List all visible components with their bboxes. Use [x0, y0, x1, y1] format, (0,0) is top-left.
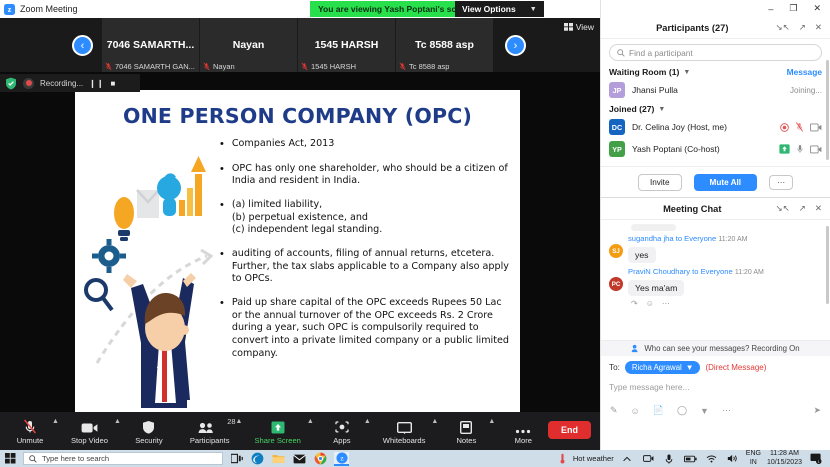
chat-to-label: To: — [609, 363, 620, 372]
scrolled-message-partial — [631, 224, 676, 231]
microphone-tray-icon[interactable] — [662, 452, 677, 466]
clock-date: 10/15/2023 — [767, 459, 802, 466]
participants-icon — [198, 418, 222, 434]
system-tray: Hot weather — [558, 450, 826, 466]
waiting-room-header[interactable]: Waiting Room (1) ▼ Message — [601, 64, 830, 79]
close-chat-icon[interactable]: ✕ — [815, 203, 822, 214]
thumbnail-name: Nayan — [213, 62, 235, 71]
file-explorer-icon[interactable] — [271, 452, 286, 466]
search-icon — [617, 49, 625, 57]
file-icon[interactable]: 📄 — [653, 405, 664, 416]
window-controls: – ❐ ✕ — [601, 0, 830, 17]
bullet-marker: • — [220, 248, 224, 286]
task-view-icon[interactable] — [229, 452, 244, 466]
mail-icon[interactable] — [292, 452, 307, 466]
avatar: SJ — [609, 244, 623, 258]
sticker-icon[interactable]: ◯ — [677, 405, 687, 416]
thumbnail-list: 7046 SAMARTH... 7046 SAMARTH GAN... Naya… — [102, 18, 494, 72]
participant-search-placeholder: Find a participant — [629, 48, 693, 58]
participants-panel: Participants (27) ↘↖ ↗ ✕ Find a particip… — [601, 17, 830, 197]
shield-icon — [142, 418, 155, 434]
participants-button[interactable]: Participants 28 — [186, 418, 234, 445]
video-thumbnail[interactable]: 7046 SAMARTH... 7046 SAMARTH GAN... — [102, 18, 200, 72]
waiting-room-label: Waiting Room (1) — [609, 67, 679, 77]
mic-off-icon — [23, 418, 37, 434]
participants-panel-title: Participants (27) — [609, 23, 776, 33]
chat-message-text: yes — [628, 247, 656, 263]
chat-toolbar: ✎ ☺ 📄 ◯ ▼ ⋯ ➤ — [601, 405, 830, 416]
share-screen-icon — [271, 418, 285, 434]
thumbnail-display-name: 7046 SAMARTH... — [102, 39, 199, 51]
popout-chat-icon[interactable]: ↗ — [799, 203, 806, 214]
participant-status-icons — [779, 144, 822, 154]
end-meeting-button[interactable]: End — [548, 421, 591, 439]
slide-title: ONE PERSON COMPANY (OPC) — [75, 104, 520, 128]
chat-recipient-value: Richa Agrawal — [632, 363, 682, 372]
language-code: ENG — [746, 450, 761, 457]
waiting-room-message-link[interactable]: Message — [787, 67, 822, 77]
chat-message-text: Yes ma'am — [628, 280, 684, 296]
participant-status-icons — [780, 122, 822, 132]
chat-scrollbar[interactable] — [826, 226, 829, 304]
participant-status: Joining... — [790, 86, 822, 95]
mic-off-icon — [399, 62, 406, 71]
chrome-icon[interactable] — [313, 452, 328, 466]
apps-control: Apps ▲ — [322, 418, 379, 445]
joined-label: Joined (27) — [609, 104, 654, 114]
windows-taskbar: Type here to search — [0, 450, 830, 467]
invite-button[interactable]: Invite — [638, 174, 682, 191]
recording-bar: Recording... ❙❙ ■ — [0, 74, 140, 92]
video-icon — [810, 145, 822, 154]
chat-message: PC PraviN Choudhary to Everyone 11:20 AM… — [609, 267, 822, 308]
whiteboards-label: Whiteboards — [383, 436, 426, 445]
thumbnail-name: Tc 8588 asp — [409, 62, 449, 71]
participants-caret-icon[interactable]: ▲ — [236, 418, 243, 425]
bullet-marker: • — [220, 163, 224, 188]
audio-options-caret-icon[interactable]: ▲ — [52, 418, 59, 425]
participants-panel-actions: ↘↖ ↗ ✕ — [776, 22, 823, 33]
zoom-logo-icon: z — [4, 4, 15, 15]
slide-bullet: • auditing of accounts, filing of annual… — [220, 248, 510, 286]
windows-logo-icon — [5, 453, 16, 464]
zoom-meeting-screen: z Zoom Meeting You are viewing Yash Popt… — [0, 0, 830, 467]
unmute-label: Unmute — [17, 436, 44, 445]
clock-time: 11:28 AM — [770, 450, 799, 457]
restore-button[interactable]: ❐ — [789, 3, 797, 14]
recording-icon — [780, 123, 789, 132]
zoom-main-window: z Zoom Meeting You are viewing Yash Popt… — [0, 0, 600, 450]
thumbnail-display-name: 1545 HARSH — [298, 39, 395, 51]
slide-bullet: • Paid up share capital of the OPC excee… — [220, 297, 510, 360]
more-icon[interactable]: ⋯ — [662, 299, 670, 308]
recording-label: Recording... — [40, 79, 83, 88]
mic-off-icon — [301, 62, 308, 71]
participant-name: Jhansi Pulla — [632, 85, 678, 95]
avatar: DC — [609, 119, 625, 135]
mic-on-icon — [796, 144, 804, 154]
start-button[interactable] — [4, 452, 17, 465]
meeting-controls-toolbar: Unmute ▲ Stop Video ▲ — [0, 412, 600, 450]
participant-row[interactable]: DC Dr. Celina Joy (Host, me) — [601, 116, 830, 138]
minimize-panel-icon[interactable]: ↘↖ — [776, 22, 790, 33]
video-icon — [81, 418, 98, 434]
battery-icon[interactable] — [683, 452, 698, 466]
avatar: YP — [609, 141, 625, 157]
participants-panel-header: Participants (27) ↘↖ ↗ ✕ — [601, 17, 830, 39]
security-label: Security — [135, 436, 162, 445]
window-title: Zoom Meeting — [20, 4, 78, 14]
notes-icon — [460, 418, 472, 434]
bullet-marker: • — [220, 138, 224, 152]
avatar: JP — [609, 82, 625, 98]
share-screen-label: Share Screen — [254, 436, 300, 445]
participant-search-wrap: Find a participant — [601, 39, 830, 64]
view-layout-button[interactable]: View — [564, 22, 594, 32]
unmute-control: Unmute ▲ — [10, 418, 67, 445]
chat-panel-header: Meeting Chat ↘↖ ↗ ✕ — [601, 198, 830, 220]
bullet-marker: • — [220, 199, 224, 237]
chat-timestamp: 11:20 AM — [718, 236, 747, 243]
chat-timestamp: 11:20 AM — [735, 269, 764, 276]
stop-video-button[interactable]: Stop Video — [67, 418, 112, 445]
participant-filmstrip: 7046 SAMARTH... 7046 SAMARTH GAN... Naya… — [0, 18, 600, 72]
avatar: PC — [609, 277, 623, 291]
bullet-text: auditing of accounts, filing of annual r… — [232, 248, 510, 286]
whiteboards-button[interactable]: Whiteboards — [379, 418, 430, 445]
apps-button[interactable]: Apps — [322, 418, 362, 445]
thumbnail-display-name: Nayan — [200, 39, 297, 51]
chat-sender[interactable]: PraviN Choudhary — [628, 267, 690, 276]
business-growth-illustration — [79, 138, 219, 408]
whiteboards-caret-icon[interactable]: ▲ — [431, 418, 438, 425]
chat-sender[interactable]: sugandha jha — [628, 234, 674, 243]
share-screen-button[interactable]: Share Screen — [250, 418, 304, 445]
filmstrip-prev-button[interactable]: ‹ — [72, 35, 93, 56]
video-options-caret-icon[interactable]: ▲ — [114, 418, 121, 425]
bullet-marker: • — [220, 297, 224, 360]
chat-recipient-selector: To: Richa Agrawal ▼ (Direct Message) — [601, 361, 830, 374]
bullet-text: OPC has only one shareholder, who should… — [232, 163, 510, 188]
bullet-text: (a) limited liability, (b) perpetual exi… — [232, 199, 382, 237]
more-control: More — [503, 418, 543, 445]
emoji-reaction-icon[interactable]: ☺ — [646, 299, 654, 308]
close-panel-icon[interactable]: ✕ — [815, 22, 822, 33]
participant-name: Yash Poptani (Co-host) — [632, 144, 720, 154]
video-icon — [810, 123, 822, 132]
chat-message-input[interactable]: Type message here... — [609, 382, 690, 392]
chat-message-meta: sugandha jha to Everyone 11:20 AM — [628, 234, 822, 243]
chevron-down-icon[interactable]: ▼ — [683, 69, 690, 76]
pause-recording-button[interactable]: ❙❙ — [89, 79, 104, 88]
slide-bullet: • Companies Act, 2013 — [220, 138, 510, 152]
more-label: More — [515, 436, 532, 445]
screenshot-icon[interactable]: ✎ — [610, 405, 618, 416]
participant-search-input[interactable]: Find a participant — [609, 44, 822, 61]
mic-off-icon — [105, 62, 112, 71]
chat-privacy-notice[interactable]: Who can see your messages? Recording On — [601, 340, 830, 356]
participants-more-button[interactable]: ⋯ — [769, 175, 793, 190]
notes-label: Notes — [456, 436, 476, 445]
view-button-label: View — [576, 22, 594, 32]
show-hidden-icons-chevron[interactable] — [620, 452, 635, 466]
chat-message-meta: PraviN Choudhary to Everyone 11:20 AM — [628, 267, 822, 276]
grid-icon — [564, 23, 573, 31]
shield-icon[interactable] — [5, 77, 17, 90]
chat-message-reactions: ↷ ☺ ⋯ — [631, 299, 822, 308]
waiting-room-participant-row[interactable]: JP Jhansi Pulla Joining... — [601, 79, 830, 101]
bullet-text: Companies Act, 2013 — [232, 138, 335, 152]
apps-icon — [335, 418, 349, 434]
chevron-down-icon[interactable]: ▼ — [700, 406, 709, 416]
participants-control: Participants 28 ▲ — [186, 418, 251, 445]
mic-off-icon — [203, 62, 210, 71]
share-screen-control: Share Screen ▲ — [250, 418, 321, 445]
video-thumbnail[interactable]: 1545 HARSH 1545 HARSH — [298, 18, 396, 72]
slide-bullet: • OPC has only one shareholder, who shou… — [220, 163, 510, 188]
thumbnail-footer: Nayan — [200, 62, 297, 71]
slide-bullet: • (a) limited liability, (b) perpetual e… — [220, 199, 510, 237]
reply-icon[interactable]: ↷ — [631, 299, 638, 308]
thumbnail-display-name: Tc 8588 asp — [396, 39, 493, 51]
thumbnail-name: 1545 HARSH — [311, 62, 356, 71]
notifications-icon[interactable]: 1 — [808, 452, 823, 466]
share-options-caret-icon[interactable]: ▲ — [307, 418, 314, 425]
participants-scrollbar[interactable] — [826, 60, 829, 160]
share-screen-icon — [779, 144, 790, 154]
edge-icon[interactable] — [250, 452, 265, 466]
participants-action-bar: Invite Mute All ⋯ — [601, 166, 830, 197]
apps-label: Apps — [333, 436, 350, 445]
presentation-slide: ONE PERSON COMPANY (OPC) — [75, 90, 520, 412]
apps-caret-icon[interactable]: ▲ — [364, 418, 371, 425]
chevron-down-icon: ▼ — [530, 6, 537, 13]
thumbnail-name: 7046 SAMARTH GAN... — [115, 62, 195, 71]
thumbnail-footer: Tc 8588 asp — [396, 62, 493, 71]
camera-tray-icon[interactable] — [641, 452, 656, 466]
meeting-chat-panel: Meeting Chat ↘↖ ↗ ✕ SJ sugandha jha to E… — [601, 197, 830, 418]
volume-icon[interactable] — [725, 452, 740, 466]
direct-message-tag: (Direct Message) — [705, 363, 766, 372]
chat-message: SJ sugandha jha to Everyone 11:20 AM yes — [609, 234, 822, 263]
notes-button[interactable]: Notes — [446, 418, 486, 445]
video-thumbnail[interactable]: Tc 8588 asp Tc 8588 asp — [396, 18, 494, 72]
recording-indicator-icon — [23, 78, 34, 89]
view-options-label: View Options — [462, 4, 516, 14]
participants-label: Participants — [190, 436, 230, 445]
chat-privacy-text: Who can see your messages? Recording On — [644, 344, 799, 353]
clock[interactable]: 11:28 AM 10/15/2023 — [767, 450, 802, 466]
participant-row[interactable]: YP Yash Poptani (Co-host) — [601, 138, 830, 160]
mic-off-icon — [795, 122, 804, 132]
minimize-chat-icon[interactable]: ↘↖ — [776, 203, 790, 214]
weather-label[interactable]: Hot weather — [573, 454, 614, 463]
search-icon — [29, 455, 37, 463]
zoom-icon[interactable]: z — [334, 452, 349, 466]
chevron-down-icon: ▼ — [686, 363, 694, 372]
view-options-button[interactable]: View Options ▼ — [455, 1, 544, 17]
chat-recipient: to Everyone — [692, 267, 733, 276]
chat-panel-actions: ↘↖ ↗ ✕ — [776, 203, 823, 214]
filmstrip-next-button[interactable]: › — [505, 35, 526, 56]
participant-name: Dr. Celina Joy (Host, me) — [632, 122, 727, 132]
chat-recipient-dropdown[interactable]: Richa Agrawal ▼ — [625, 361, 701, 374]
emoji-icon[interactable]: ☺ — [631, 406, 640, 416]
right-side-panels: – ❐ ✕ Participants (27) ↘↖ ↗ ✕ — [600, 0, 830, 450]
video-control: Stop Video ▲ — [67, 418, 129, 445]
popout-panel-icon[interactable]: ↗ — [799, 22, 806, 33]
video-thumbnail[interactable]: Nayan Nayan — [200, 18, 298, 72]
mute-all-button[interactable]: Mute All — [694, 174, 758, 191]
region-code: IN — [750, 459, 757, 466]
bullet-text: Paid up share capital of the OPC exceeds… — [232, 297, 510, 360]
notes-caret-icon[interactable]: ▲ — [488, 418, 495, 425]
stop-video-label: Stop Video — [71, 436, 108, 445]
taskbar-search-input[interactable]: Type here to search — [23, 452, 223, 465]
more-button[interactable]: More — [503, 418, 543, 445]
send-message-button[interactable]: ➤ — [813, 405, 821, 416]
chat-message-body: sugandha jha to Everyone 11:20 AM yes — [628, 234, 822, 263]
chat-panel-title: Meeting Chat — [609, 204, 776, 214]
chevron-down-icon[interactable]: ▼ — [658, 106, 665, 113]
shared-screen-area: ONE PERSON COMPANY (OPC) — [0, 72, 600, 412]
person-info-icon — [631, 344, 640, 353]
chat-message-body: PraviN Choudhary to Everyone 11:20 AM Ye… — [628, 267, 822, 308]
chat-message-list: SJ sugandha jha to Everyone 11:20 AM yes… — [601, 220, 830, 308]
unmute-button[interactable]: Unmute — [10, 418, 50, 445]
slide-bullet-list: • Companies Act, 2013 • OPC has only one… — [220, 138, 510, 371]
minimize-button[interactable]: – — [768, 4, 773, 14]
temperature-icon — [558, 453, 567, 464]
zoom-titlebar: z Zoom Meeting You are viewing Yash Popt… — [0, 0, 600, 18]
thumbnail-footer: 7046 SAMARTH GAN... — [102, 62, 199, 71]
more-icon — [515, 418, 531, 434]
wifi-icon[interactable] — [704, 452, 719, 466]
notes-control: Notes ▲ — [446, 418, 503, 445]
chat-recipient: to Everyone — [676, 234, 717, 243]
security-button[interactable]: Security — [129, 418, 169, 445]
security-control: Security ▲ — [129, 418, 186, 445]
joined-header[interactable]: Joined (27) ▼ — [601, 101, 830, 116]
language-indicator[interactable]: ENG IN — [746, 450, 761, 466]
whiteboard-icon — [397, 418, 412, 434]
taskbar-search-placeholder: Type here to search — [42, 454, 109, 463]
more-icon[interactable]: ⋯ — [722, 405, 731, 416]
close-button[interactable]: ✕ — [813, 3, 821, 14]
participants-count: 28 — [227, 417, 235, 426]
stop-recording-button[interactable]: ■ — [111, 79, 117, 88]
thumbnail-footer: 1545 HARSH — [298, 62, 395, 71]
whiteboards-control: Whiteboards ▲ — [379, 418, 447, 445]
